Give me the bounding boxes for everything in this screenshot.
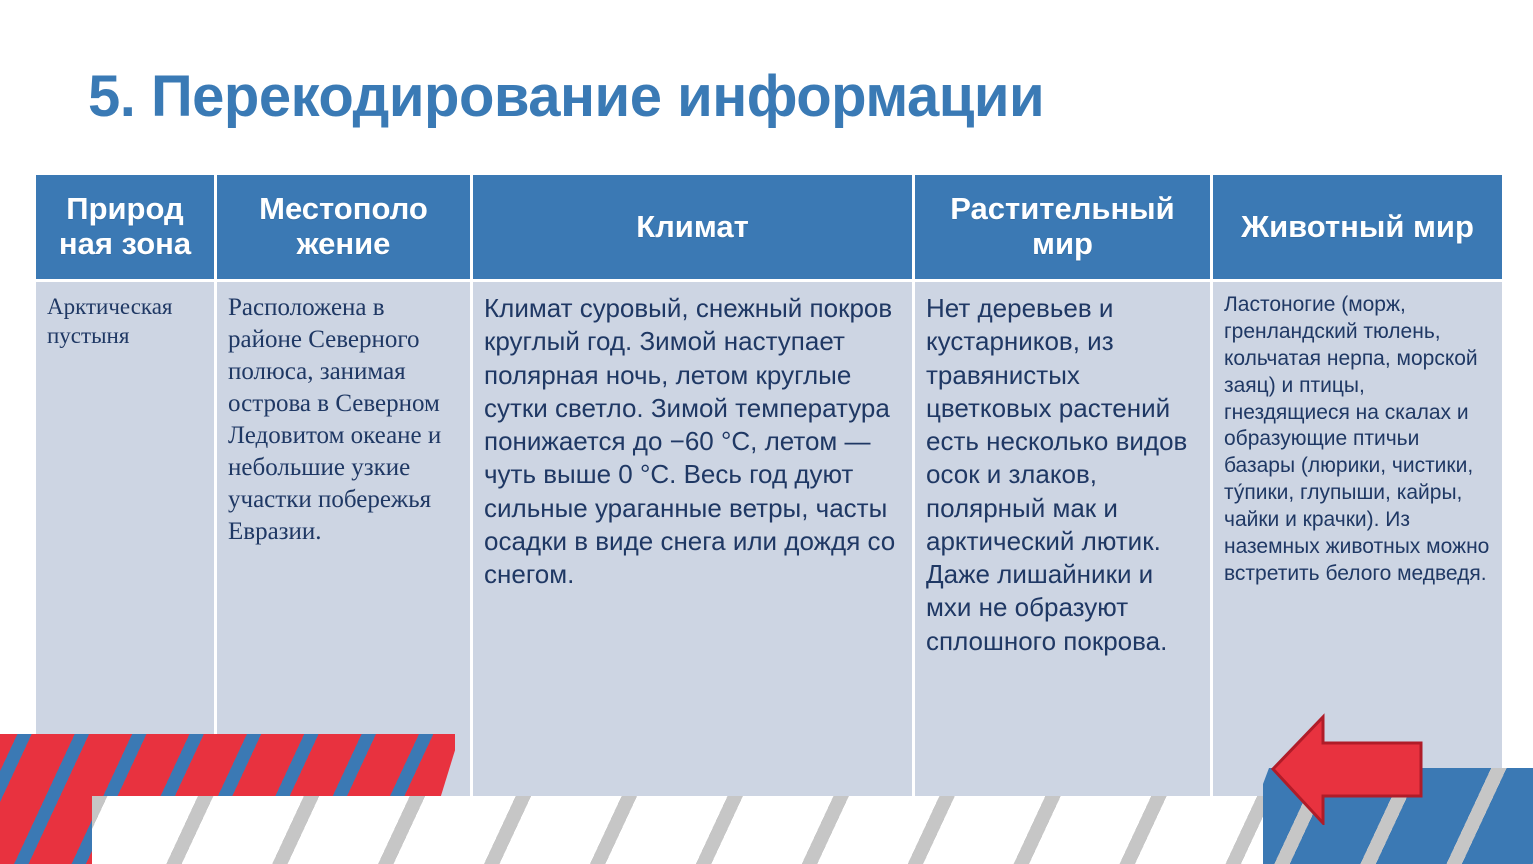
- column-header-natural-zone: Природ ная зона: [36, 175, 217, 282]
- column-header-climate: Климат: [473, 175, 915, 282]
- center-white-striped-band: [92, 796, 1342, 864]
- column-header-fauna: Животный мир: [1213, 175, 1502, 282]
- page-title: 5. Перекодирование информации: [88, 57, 1288, 137]
- table-header-row: Природ ная зона Местополо жение Климат Р…: [36, 175, 1502, 282]
- arrow-left-shape: [1273, 717, 1421, 823]
- cell-flora: Нет деревьев и кустарников, из травянист…: [915, 282, 1213, 815]
- column-header-location: Местополо жение: [217, 175, 473, 282]
- arrow-left-icon: [1271, 713, 1423, 825]
- cell-climate: Климат суровый, снежный покров круглый г…: [473, 282, 915, 815]
- column-header-flora: Растительный мир: [915, 175, 1213, 282]
